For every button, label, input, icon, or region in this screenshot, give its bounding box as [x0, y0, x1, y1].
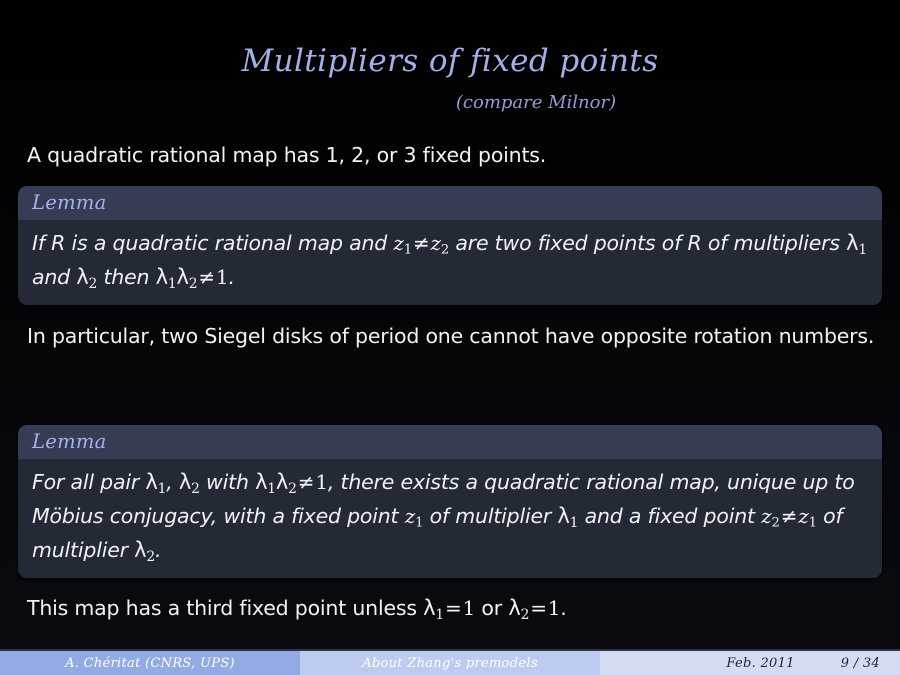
lemma-block-1: Lemma If R is a quadratic rational map a…	[18, 186, 882, 305]
middle-paragraph: In particular, two Siegel disks of perio…	[27, 320, 879, 353]
math-one-c: 1	[463, 596, 476, 620]
math-neq-d: ≠	[780, 504, 799, 528]
math-eq-b: =	[529, 596, 548, 620]
footer-talk-title: About Zhang's premodels	[300, 651, 600, 675]
math-lambda1-f: λ1	[423, 596, 444, 620]
title-area: Multipliers of fixed points	[0, 44, 900, 78]
math-lambda2-f: λ2	[508, 596, 529, 620]
footer-meta: Feb. 2011 9 / 34	[600, 651, 900, 675]
math-z2-b: z2	[761, 504, 780, 528]
math-lambda1-d: λ1	[255, 470, 276, 494]
final-paragraph: This map has a third fixed point unless …	[27, 592, 875, 625]
math-lambda2-a: λ2	[76, 265, 97, 289]
page-subtitle: (compare Milnor)	[0, 92, 900, 113]
lemma1-text-part-1: If R is a quadratic rational map and	[32, 231, 393, 255]
math-neq-a: ≠	[412, 231, 431, 255]
lemma-block-2-header: Lemma	[18, 425, 882, 459]
footer-date: Feb. 2011	[726, 656, 794, 671]
math-lambda2-d: λ2	[276, 470, 297, 494]
math-neq-c: ≠	[297, 470, 316, 494]
lemma-block-1-header: Lemma	[18, 186, 882, 220]
math-neq-b: ≠	[197, 265, 216, 289]
math-lambda2-e: λ2	[134, 538, 155, 562]
lemma2-text-part-8: .	[155, 538, 161, 562]
lemma2-text-part-5: of multiplier	[423, 504, 557, 528]
lemma1-text-part-4: then	[97, 265, 155, 289]
lemma-block-1-body: If R is a quadratic rational map and z1≠…	[18, 220, 882, 305]
page-title: Multipliers of fixed points	[0, 44, 900, 78]
final-text-prefix: This map has a third fixed point unless	[27, 596, 423, 620]
math-lambda1-c: λ1	[145, 470, 166, 494]
footer-author: A. Chéritat (CNRS, UPS)	[0, 651, 300, 675]
lemma2-text-part-1: For all pair	[32, 470, 145, 494]
math-z1-a: z1	[393, 231, 412, 255]
lemma2-text-part-2: ,	[166, 470, 179, 494]
math-lambda1-b: λ1	[156, 265, 177, 289]
lemma-block-2: Lemma For all pair λ1, λ2 with λ1λ2≠1, t…	[18, 425, 882, 578]
final-text-end: .	[560, 596, 566, 620]
lemma2-text-part-3: with	[200, 470, 255, 494]
math-lambda2-c: λ2	[179, 470, 200, 494]
lemma1-text-part-3: and	[32, 265, 76, 289]
footer-page-number: 9 / 34	[841, 656, 880, 671]
math-z1-b: z1	[405, 504, 424, 528]
final-text-or: or	[475, 596, 508, 620]
lemma2-text-part-6: and a fixed point	[578, 504, 761, 528]
math-lambda1-a: λ1	[846, 231, 867, 255]
math-lambda1-e: λ1	[557, 504, 578, 528]
lemma1-text-part-5: .	[228, 265, 234, 289]
math-eq-a: =	[444, 596, 463, 620]
math-one-d: 1	[548, 596, 561, 620]
math-one-b: 1	[315, 470, 328, 494]
math-lambda2-b: λ2	[176, 265, 197, 289]
lemma-block-1-title: Lemma	[32, 191, 107, 214]
math-z1-c: z1	[798, 504, 817, 528]
lemma-block-2-title: Lemma	[32, 430, 107, 453]
lemma1-text-part-2: are two fixed points of R of multipliers	[449, 231, 846, 255]
intro-paragraph: A quadratic rational map has 1, 2, or 3 …	[27, 139, 875, 172]
math-one-a: 1	[216, 265, 229, 289]
math-z2-a: z2	[431, 231, 450, 255]
presentation-slide: Multipliers of fixed points (compare Mil…	[0, 0, 900, 675]
lemma-block-2-body: For all pair λ1, λ2 with λ1λ2≠1, there e…	[18, 459, 882, 578]
footer-bar: A. Chéritat (CNRS, UPS) About Zhang's pr…	[0, 651, 900, 675]
